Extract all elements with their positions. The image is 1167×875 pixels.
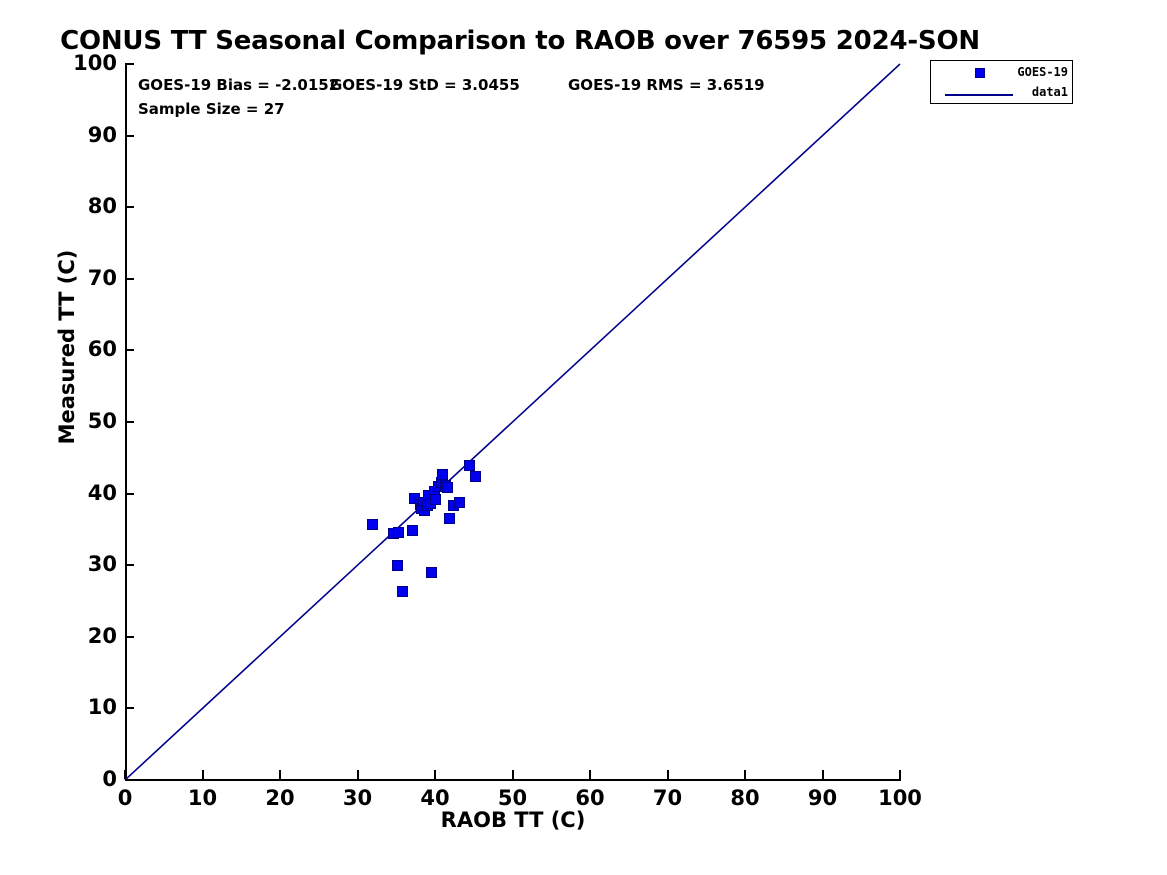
y-tick-mark xyxy=(125,779,134,781)
chart-figure: CONUS TT Seasonal Comparison to RAOB ove… xyxy=(0,0,1167,875)
square-marker-icon xyxy=(975,68,985,78)
reference-line-layer xyxy=(0,0,1167,875)
reference-line-1to1 xyxy=(125,64,900,780)
y-tick-mark xyxy=(125,636,134,638)
legend-label-data1: data1 xyxy=(1032,85,1068,99)
legend-entry-goes19: GOES-19 xyxy=(931,63,1074,83)
y-tick-mark xyxy=(125,135,134,137)
legend-label-goes19: GOES-19 xyxy=(1017,65,1068,79)
y-tick-mark xyxy=(125,63,134,65)
y-tick-mark xyxy=(125,206,134,208)
line-segment-icon xyxy=(945,94,1013,96)
y-tick-mark xyxy=(125,278,134,280)
y-tick-mark xyxy=(125,493,134,495)
legend-entry-data1: data1 xyxy=(931,83,1074,103)
y-tick-mark xyxy=(125,421,134,423)
y-tick-mark xyxy=(125,349,134,351)
y-tick-mark xyxy=(125,564,134,566)
chart-legend: GOES-19 data1 xyxy=(930,60,1073,104)
y-tick-mark xyxy=(125,707,134,709)
